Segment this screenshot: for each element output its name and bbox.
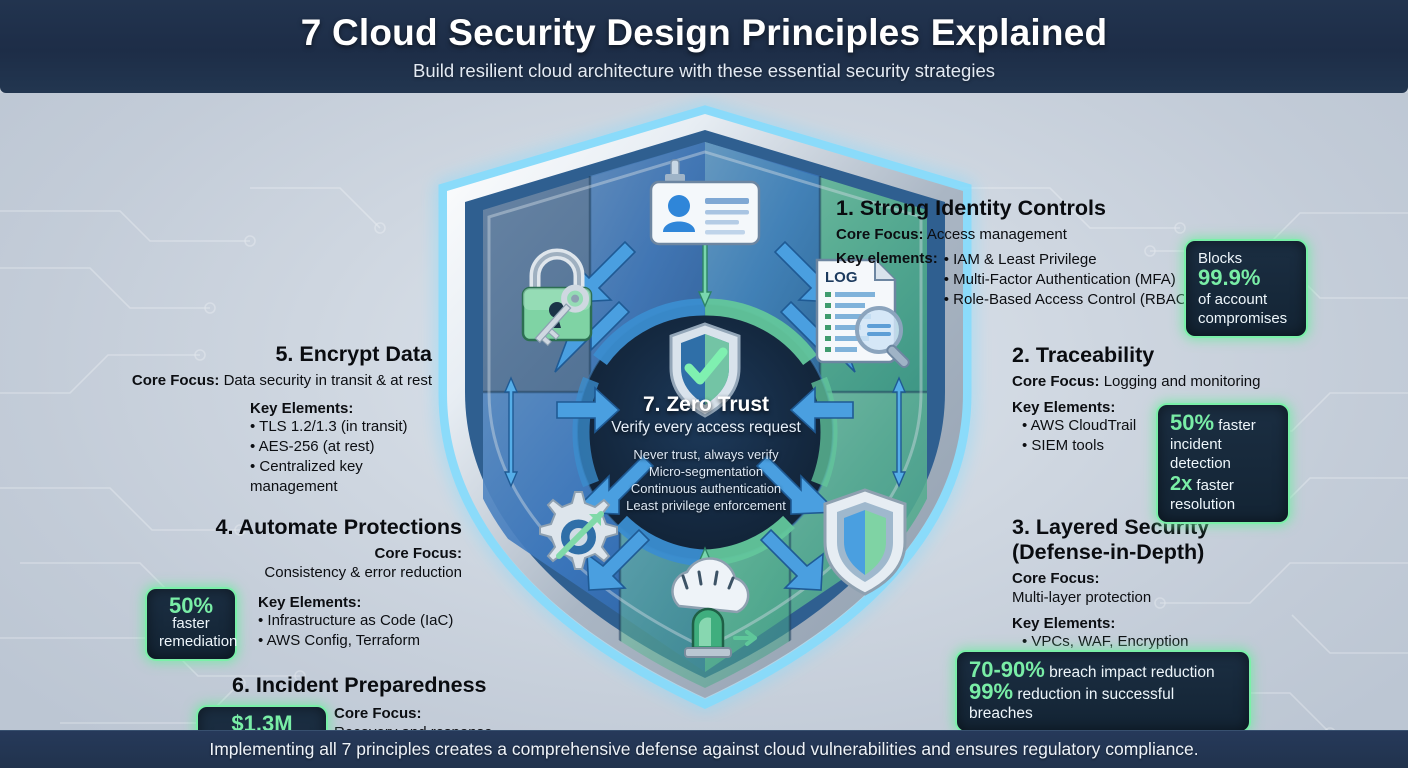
principle-3-block: 3. Layered Security (Defense-in-Depth) C…: [1012, 515, 1312, 652]
principle-3-key-label: Key Elements:: [1012, 615, 1312, 632]
list-item: TLS 1.2/1.3 (in transit): [250, 417, 432, 437]
core-focus-value: Access management: [927, 226, 1067, 243]
principle-3-title-line2: (Defense-in-Depth): [1012, 540, 1312, 565]
principle-4-title: 4. Automate Protections: [152, 515, 462, 540]
core-focus-label: Core Focus:: [1012, 373, 1100, 390]
principle-5-key-label: Key Elements:: [250, 400, 432, 417]
main-canvas: LOG: [0, 93, 1408, 730]
core-focus-value: Data security in transit & at rest: [224, 372, 432, 389]
principle-2-title: 2. Traceability: [1012, 343, 1312, 368]
principle-1-core: Core Focus: Access management: [836, 225, 1196, 244]
list-item: IAM & Least Privilege: [944, 250, 1192, 270]
footer-text: Implementing all 7 principles creates a …: [209, 739, 1198, 760]
principle-4-core-label: Core Focus:: [152, 544, 462, 563]
principle-5-title: 5. Encrypt Data: [92, 342, 432, 367]
list-item: Centralized key management: [250, 457, 432, 497]
core-focus-label: Core Focus:: [132, 372, 220, 389]
list-item: VPCs, WAF, Encryption: [1022, 632, 1312, 652]
list-item: Multi-Factor Authentication (MFA): [944, 270, 1192, 290]
core-focus-value: Logging and monitoring: [1104, 373, 1261, 390]
principle-3-core-value: Multi-layer protection: [1012, 588, 1312, 607]
principle-5-block: 5. Encrypt Data Core Focus: Data securit…: [92, 342, 432, 497]
principle-1-title: 1. Strong Identity Controls: [836, 196, 1196, 221]
principle-5-core: Core Focus: Data security in transit & a…: [92, 371, 432, 390]
gear-automation-icon: [540, 492, 617, 569]
principle-3-core-label: Core Focus:: [1012, 569, 1312, 588]
stat-value: $1.3M: [210, 715, 314, 730]
stat-badge-incident: $1.3M average savings per breach 54 days…: [196, 705, 328, 730]
central-shield-graphic: LOG: [405, 93, 1005, 722]
stat-caption: of account compromises: [1198, 290, 1294, 328]
stat-caption-line2: resolution: [1170, 495, 1276, 514]
principle-4-items: Infrastructure as Code (IaC) AWS Config,…: [258, 611, 462, 651]
header-bar: 7 Cloud Security Design Principles Expla…: [0, 0, 1408, 93]
principle-6-core-value: Recovery and response: [334, 723, 538, 730]
stat-badge-automate: 50% faster remediation: [145, 587, 237, 661]
list-item: Role-Based Access Control (RBAC): [944, 290, 1192, 310]
principle-1-items: IAM & Least Privilege Multi-Factor Authe…: [944, 250, 1192, 310]
stat-value: 99%: [969, 679, 1013, 704]
stat-badge-identity: Blocks 99.9% of account compromises: [1184, 239, 1308, 338]
stat-badge-layered: 70-90% breach impact reduction 99% reduc…: [955, 650, 1251, 730]
principle-5-items: TLS 1.2/1.3 (in transit) AES-256 (at res…: [250, 417, 432, 497]
infographic-canvas: 7 Cloud Security Design Principles Expla…: [0, 0, 1408, 768]
page-subtitle: Build resilient cloud architecture with …: [413, 60, 995, 82]
footer-bar: Implementing all 7 principles creates a …: [0, 730, 1408, 768]
principle-2-core: Core Focus: Logging and monitoring: [1012, 372, 1312, 391]
principle-6-title: 6. Incident Preparedness: [232, 673, 538, 698]
stat-value: 99.9%: [1198, 265, 1260, 290]
stat-caption: faster: [1214, 417, 1256, 434]
stat-badge-traceability: 50% faster incident detection 2x faster …: [1156, 403, 1290, 524]
stat-value: 50%: [1170, 410, 1214, 435]
principle-6-core-label: Core Focus:: [334, 704, 538, 723]
stat-caption: breach impact reduction: [1045, 664, 1215, 681]
page-title: 7 Cloud Security Design Principles Expla…: [301, 12, 1108, 54]
core-focus-label: Core Focus:: [836, 226, 924, 243]
principle-4-core-value: Consistency & error reduction: [152, 563, 462, 582]
core-focus-label: Core Focus:: [1012, 570, 1100, 587]
list-item: AWS Config, Terraform: [258, 631, 462, 651]
stat-value: 2x: [1170, 473, 1192, 495]
stat-caption: faster: [1192, 477, 1234, 494]
stat-caption-line2: incident detection: [1170, 435, 1276, 473]
principle-1-block: 1. Strong Identity Controls Core Focus: …: [836, 196, 1196, 310]
principle-4-key-label: Key Elements:: [258, 594, 462, 611]
stat-value: 50%: [159, 597, 223, 615]
list-item: Infrastructure as Code (IaC): [258, 611, 462, 631]
principle-1-key-label: Key elements:: [836, 250, 938, 310]
stat-caption-line2: remediation: [159, 633, 223, 651]
principle-3-items: VPCs, WAF, Encryption: [1012, 632, 1312, 652]
list-item: AES-256 (at rest): [250, 437, 432, 457]
